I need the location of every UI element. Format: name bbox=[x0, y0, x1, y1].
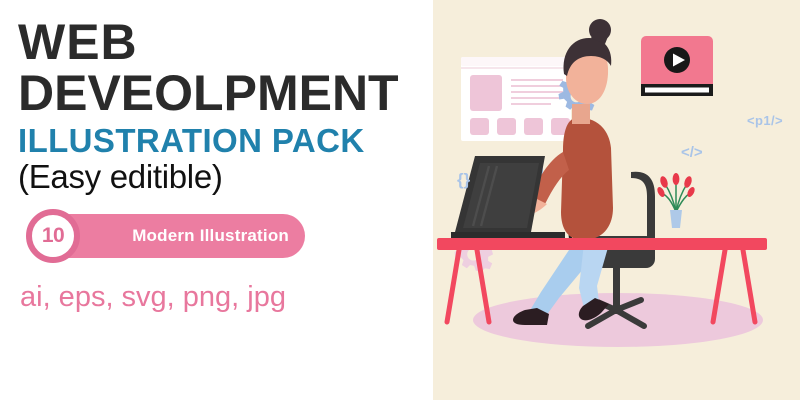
illustration-panel: <p1/> </> {} <p1/> bbox=[433, 0, 800, 400]
code-snippet-braces: {} bbox=[457, 170, 470, 190]
desk-top bbox=[437, 238, 767, 250]
poster-banner: WEB DEVEOLPMENT ILLUSTRATION PACK (Easy … bbox=[0, 0, 800, 400]
mockup-image-block bbox=[470, 75, 502, 111]
file-formats-text: ai, eps, svg, png, jpg bbox=[20, 281, 433, 314]
illustration-count-badge: Modern Illustration 10 bbox=[18, 209, 308, 263]
badge-count: 10 bbox=[42, 224, 64, 248]
code-snippet-tag: </> bbox=[681, 144, 703, 161]
plant-vase bbox=[670, 210, 682, 228]
browser-window-mockup bbox=[461, 57, 571, 141]
badge-count-circle: 10 bbox=[26, 209, 80, 263]
heading-subtitle: ILLUSTRATION PACK bbox=[18, 124, 433, 157]
heading-line-1: WEB bbox=[18, 18, 433, 67]
heading-parenthetical: (Easy editible) bbox=[18, 159, 433, 195]
heading-line-2: DEVEOLPMENT bbox=[18, 69, 433, 118]
workspace-illustration bbox=[433, 0, 800, 400]
text-panel: WEB DEVEOLPMENT ILLUSTRATION PACK (Easy … bbox=[0, 0, 433, 400]
video-player-card bbox=[641, 36, 713, 96]
badge-label: Modern Illustration bbox=[132, 226, 289, 246]
code-snippet-p1-right: <p1/> bbox=[747, 113, 783, 128]
potted-plant bbox=[656, 173, 696, 228]
